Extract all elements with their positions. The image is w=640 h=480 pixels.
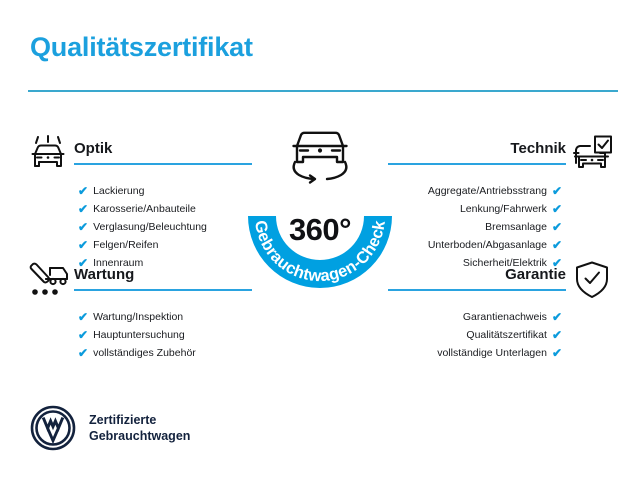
list-item-label: Lackierung [93,186,144,197]
check-icon: ✔ [552,329,562,341]
check-icon: ✔ [78,311,88,323]
list-item-label: Karosserie/Anbauteile [93,204,196,215]
list-item-label: Garantienachweis [463,312,547,323]
section-technik-titlewrap: Technik [388,132,566,165]
check-icon: ✔ [78,329,88,341]
section-garantie-title: Garantie [388,267,566,284]
page-title: Qualitätszertifikat [30,34,253,61]
check-icon: ✔ [78,347,88,359]
section-wartung-titlewrap: Wartung [74,258,252,291]
footer-brand: Zertifizierte Gebrauchtwagen [30,405,190,451]
badge-degrees-label: 360° [232,214,408,245]
list-item: ✔ Lackierung [22,182,252,200]
list-item: ✔ Qualitätszertifikat [388,326,618,344]
list-item-label: Unterboden/Abgasanlage [428,240,547,251]
section-garantie-header: Garantie [388,258,618,302]
section-wartung-title: Wartung [74,267,252,284]
list-item-label: vollständige Unterlagen [437,348,547,359]
qualitaetszertifikat-page: Qualitätszertifikat Optik [0,0,640,480]
list-item-label: Hauptuntersuchung [93,330,185,341]
car-checkbox-icon [566,132,618,176]
list-item: ✔ Verglasung/Beleuchtung [22,218,252,236]
section-garantie-titlewrap: Garantie [388,258,566,291]
footer-brand-line1: Zertifizierte [89,412,190,429]
list-item-label: Felgen/Reifen [93,240,158,251]
check-icon: ✔ [552,311,562,323]
check-icon: ✔ [78,221,88,233]
check-icon: ✔ [552,347,562,359]
shield-check-icon [566,258,618,302]
list-item: ✔ Unterboden/Abgasanlage [388,236,618,254]
list-item-label: Verglasung/Beleuchtung [93,222,207,233]
gebrauchtwagen-check-badge: Gebrauchtwagen-Check 360° [232,118,408,304]
section-wartung-list: ✔ Wartung/Inspektion ✔ Hauptuntersuchung… [22,308,252,362]
check-icon: ✔ [552,185,562,197]
footer-brand-text: Zertifizierte Gebrauchtwagen [89,412,190,445]
section-optik-underline [74,163,252,165]
list-item: ✔ Lenkung/Fahrwerk [388,200,618,218]
list-item-label: Wartung/Inspektion [93,312,183,323]
section-garantie-underline [388,289,566,291]
list-item: ✔ Garantienachweis [388,308,618,326]
section-technik-underline [388,163,566,165]
vw-logo [30,405,76,451]
list-item: ✔ Wartung/Inspektion [22,308,252,326]
list-item: ✔ Aggregate/Antriebsstrang [388,182,618,200]
section-technik-header: Technik [388,132,618,176]
car-shine-icon [22,132,74,176]
list-item: ✔ vollständige Unterlagen [388,344,618,362]
list-item-label: Bremsanlage [485,222,547,233]
list-item: ✔ Hauptuntersuchung [22,326,252,344]
list-item: ✔ Bremsanlage [388,218,618,236]
section-wartung-header: Wartung [22,258,252,302]
list-item: ✔ Karosserie/Anbauteile [22,200,252,218]
check-icon: ✔ [552,203,562,215]
list-item-label: Lenkung/Fahrwerk [460,204,547,215]
list-item-label: vollständiges Zubehör [93,348,196,359]
list-item: ✔ vollständiges Zubehör [22,344,252,362]
car-rotate-360-icon [294,133,347,183]
section-optik-header: Optik [22,132,252,176]
list-item-label: Qualitätszertifikat [466,330,547,341]
section-wartung: Wartung ✔ Wartung/Inspektion ✔ Hauptunte… [22,258,252,378]
section-garantie-list: ✔ Garantienachweis ✔ Qualitätszertifikat… [388,308,618,362]
section-optik-titlewrap: Optik [74,132,252,165]
footer-brand-line2: Gebrauchtwagen [89,428,190,445]
check-icon: ✔ [552,239,562,251]
title-divider [28,90,618,92]
check-icon: ✔ [78,203,88,215]
section-optik-title: Optik [74,141,252,158]
check-icon: ✔ [552,221,562,233]
section-technik-title: Technik [388,141,566,158]
section-garantie: Garantie ✔ Garantienachweis ✔ Qualitätsz… [388,258,618,378]
check-icon: ✔ [78,239,88,251]
section-wartung-underline [74,289,252,291]
list-item-label: Aggregate/Antriebsstrang [428,186,547,197]
car-service-wrench-icon [22,258,74,302]
list-item: ✔ Felgen/Reifen [22,236,252,254]
check-icon: ✔ [78,185,88,197]
